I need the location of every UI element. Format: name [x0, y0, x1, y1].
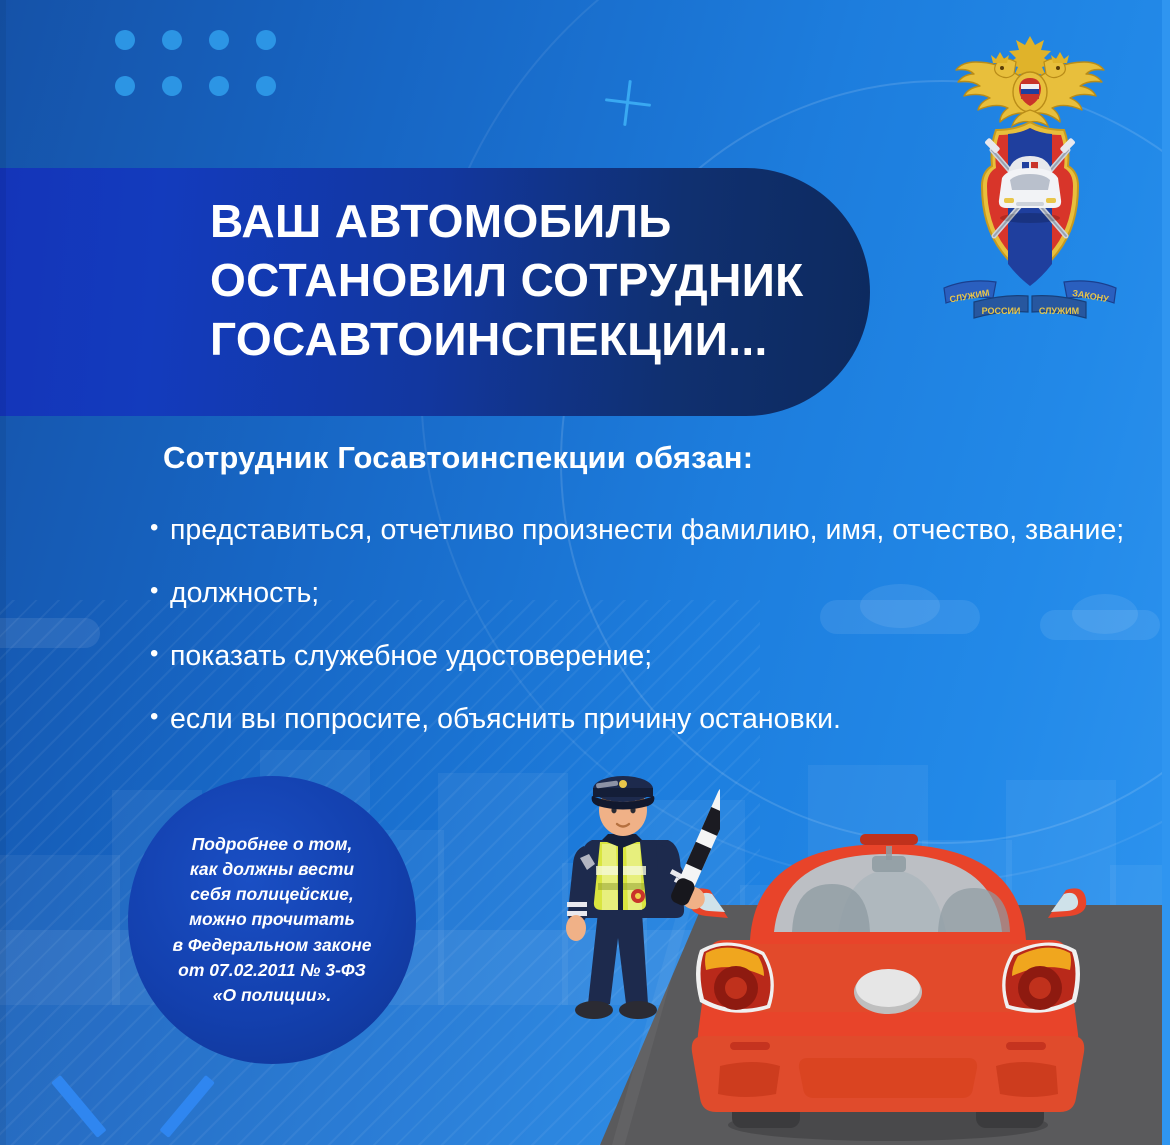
note-line: «О полиции».	[172, 983, 371, 1008]
red-car-rear-view	[688, 820, 1088, 1145]
traffic-police-officer	[540, 762, 720, 1032]
dot-grid-decoration	[115, 30, 275, 96]
title-line-2: ОСТАНОВИЛ СОТРУДНИК	[210, 251, 910, 310]
gibdd-emblem: СЛУЖИМ ЗАКОНУ РОССИИ СЛУЖИМ	[930, 22, 1130, 322]
infographic-poster: ВАШ АВТОМОБИЛЬ ОСТАНОВИЛ СОТРУДНИК ГОСАВ…	[0, 0, 1170, 1145]
note-line: Подробнее о том,	[172, 832, 371, 857]
plus-icon	[605, 80, 651, 126]
law-reference-text: Подробнее о том, как должны вести себя п…	[158, 832, 385, 1008]
note-line: себя полицейские,	[172, 882, 371, 907]
page-title: ВАШ АВТОМОБИЛЬ ОСТАНОВИЛ СОТРУДНИК ГОСАВ…	[210, 192, 910, 369]
subtitle: Сотрудник Госавтоинспекции обязан:	[163, 440, 1063, 476]
chevron-down-icon	[88, 1068, 192, 1130]
note-line: от 07.02.2011 № 3-ФЗ	[172, 958, 371, 983]
list-item: должность;	[150, 575, 1140, 612]
obligations-list: представиться, отчетливо произнести фами…	[150, 512, 1140, 764]
ribbon-word-3: СЛУЖИМ	[1039, 306, 1079, 316]
list-item: если вы попросите, объяснить причину ост…	[150, 701, 1140, 738]
title-line-1: ВАШ АВТОМОБИЛЬ	[210, 192, 910, 251]
law-reference-callout: Подробнее о том, как должны вести себя п…	[128, 776, 416, 1064]
right-edge-strip	[1162, 0, 1170, 1145]
left-edge-strip	[0, 0, 6, 1145]
list-item: представиться, отчетливо произнести фами…	[150, 512, 1140, 549]
note-line: можно прочитать	[172, 907, 371, 932]
note-line: в Федеральном законе	[172, 933, 371, 958]
title-line-3: ГОСАВТОИНСПЕКЦИИ...	[210, 310, 910, 369]
note-line: как должны вести	[172, 857, 371, 882]
ribbon-word-2: РОССИИ	[982, 306, 1021, 316]
list-item: показать служебное удостоверение;	[150, 638, 1140, 675]
